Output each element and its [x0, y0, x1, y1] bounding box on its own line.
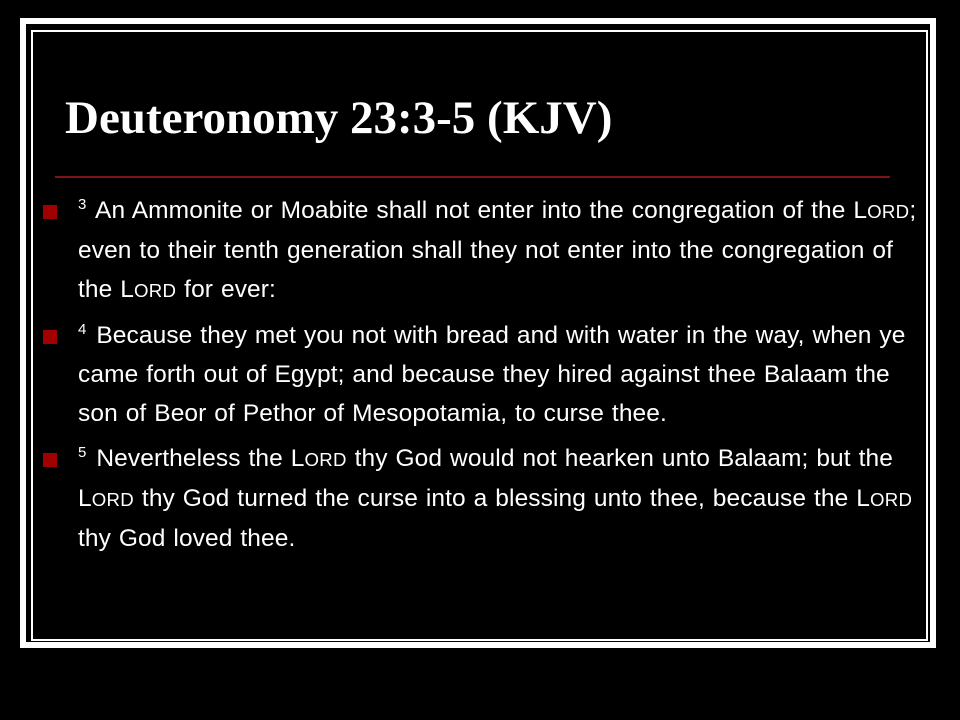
slide-content-area: Deuteronomy 23:3-5 (KJV) 3 An Ammonite o… [34, 33, 925, 638]
verse-text: thy God would not hearken unto Balaam; b… [347, 445, 893, 472]
divine-name-smallcaps: ORD [92, 489, 134, 510]
verse-text: An Ammonite or Moabite shall not enter i… [88, 197, 853, 224]
verse-number: 3 [78, 196, 88, 213]
verse-text: for ever: [176, 276, 276, 303]
divine-name-lord: LORD [856, 485, 912, 512]
scripture-bullet-list: 3 An Ammonite or Moabite shall not enter… [34, 191, 925, 564]
divine-name-cap: L [291, 445, 305, 472]
title-block: Deuteronomy 23:3-5 (KJV) [34, 33, 925, 181]
divine-name-cap: L [856, 485, 870, 512]
divine-name-lord: LORD [78, 485, 134, 512]
verse-number: 4 [78, 321, 88, 338]
verse-text: thy God loved thee. [78, 525, 295, 552]
scripture-bullet: 5 Nevertheless the LORD thy God would no… [34, 439, 925, 558]
presentation-slide: Deuteronomy 23:3-5 (KJV) 3 An Ammonite o… [0, 0, 960, 720]
bullet-square-icon [43, 330, 57, 344]
page-title: Deuteronomy 23:3-5 (KJV) [65, 91, 612, 145]
verse-number: 5 [78, 444, 88, 461]
divine-name-cap: L [78, 485, 92, 512]
divine-name-smallcaps: ORD [870, 489, 912, 510]
scripture-bullet: 4 Because they met you not with bread an… [34, 316, 925, 433]
divine-name-cap: L [120, 276, 134, 303]
divine-name-cap: L [853, 197, 867, 224]
divine-name-smallcaps: ORD [134, 280, 176, 301]
scripture-bullet: 3 An Ammonite or Moabite shall not enter… [34, 191, 925, 310]
divine-name-smallcaps: ORD [304, 449, 346, 470]
verse-text: Because they met you not with bread and … [78, 322, 905, 427]
bullet-square-icon [43, 453, 57, 467]
title-divider [55, 176, 890, 178]
verse-text: thy God turned the curse into a blessing… [134, 485, 856, 512]
bullet-square-icon [43, 205, 57, 219]
divine-name-lord: LORD [853, 197, 909, 224]
divine-name-smallcaps: ORD [867, 201, 909, 222]
verse-text: Nevertheless the [88, 445, 290, 472]
divine-name-lord: LORD [291, 445, 347, 472]
divine-name-lord: LORD [120, 276, 176, 303]
